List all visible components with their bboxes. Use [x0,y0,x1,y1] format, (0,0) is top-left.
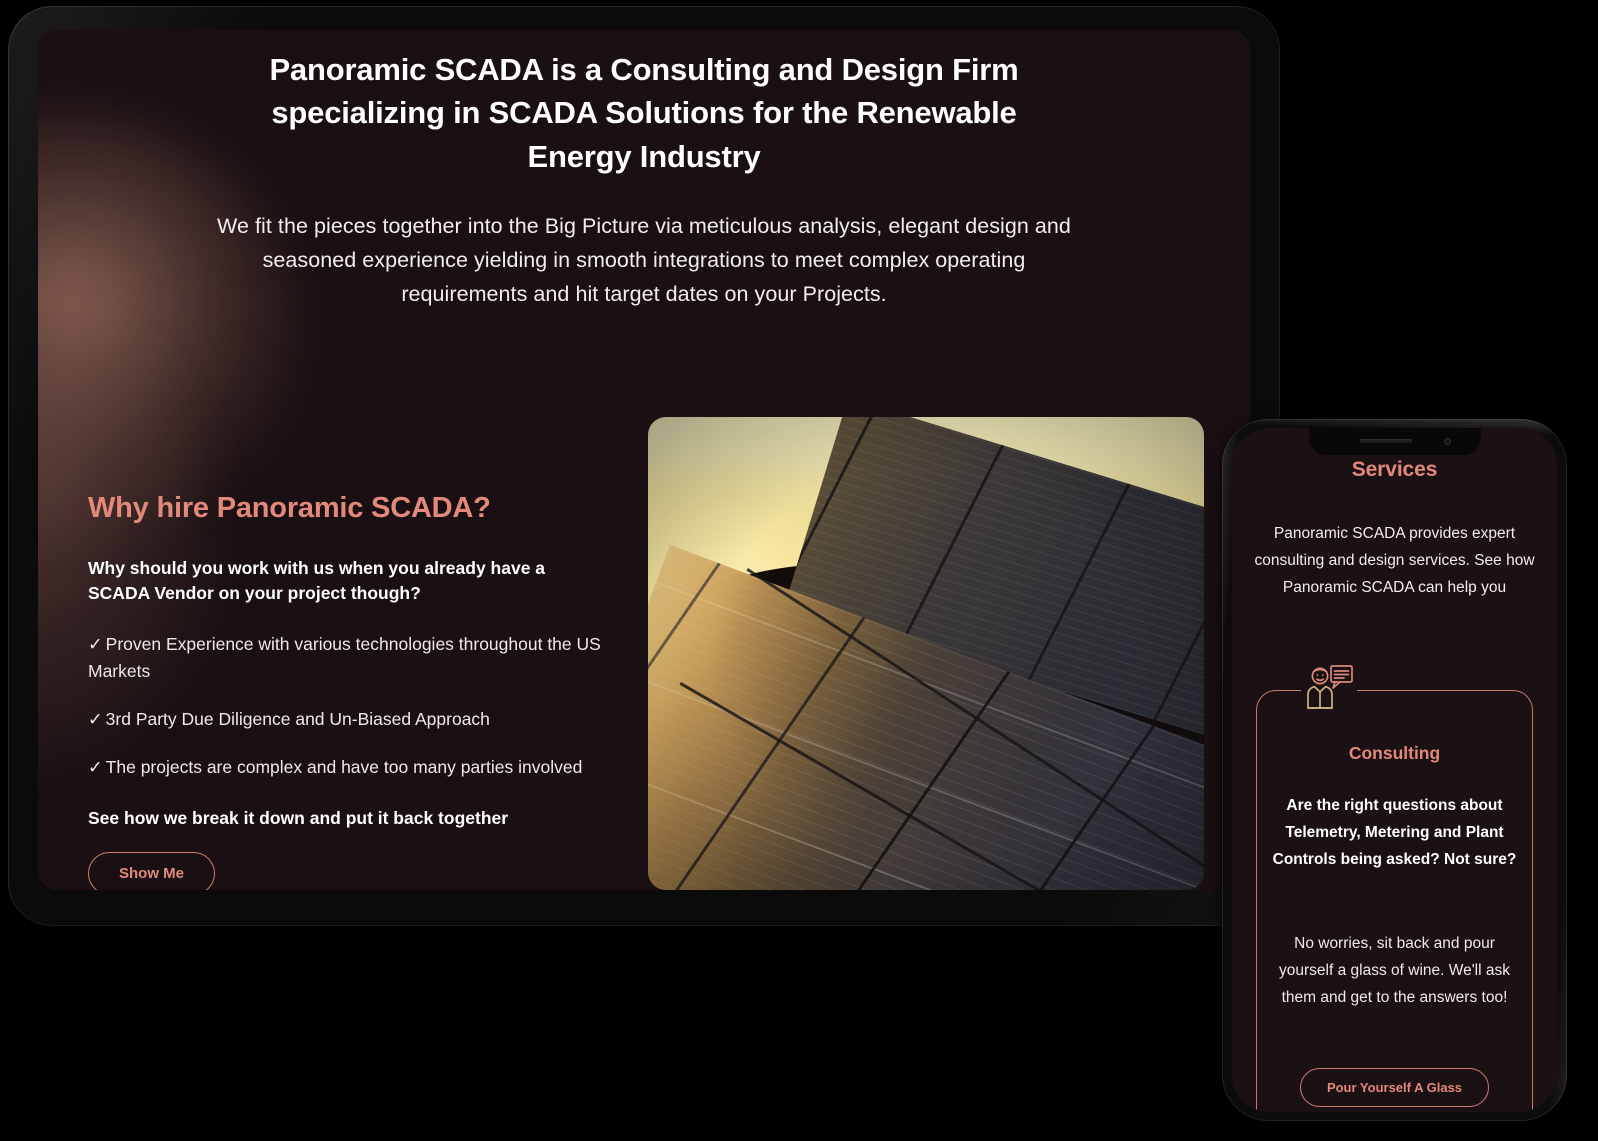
why-hire-title: Why hire Panoramic SCADA? [88,492,608,525]
tablet-screen: Panoramic SCADA is a Consulting and Desi… [38,30,1250,890]
tablet-device-frame: Panoramic SCADA is a Consulting and Desi… [8,6,1280,926]
consulting-card[interactable]: Consulting Are the right questions about… [1256,690,1533,1112]
pour-yourself-a-glass-button[interactable]: Pour Yourself A Glass [1300,1068,1489,1107]
consulting-heading: Consulting [1257,743,1532,764]
why-hire-section: Why hire Panoramic SCADA? Why should you… [88,492,608,890]
phone-notch [1309,428,1481,455]
why-hire-bullet: ✓Proven Experience with various technolo… [88,631,608,685]
checkmark-icon: ✓ [88,634,103,654]
why-hire-bullet: ✓3rd Party Due Diligence and Un-Biased A… [88,706,608,733]
device-mockup-stage: Panoramic SCADA is a Consulting and Desi… [0,0,1598,1141]
hero-subheading: We fit the pieces together into the Big … [204,210,1084,312]
consulting-body: No worries, sit back and pour yourself a… [1271,931,1518,1012]
show-me-button[interactable]: Show Me [88,852,215,890]
hero-heading: Panoramic SCADA is a Consulting and Desi… [224,48,1064,178]
phone-screen: Services Panoramic SCADA provides expert… [1232,428,1557,1112]
why-hire-bullet-label: 3rd Party Due Diligence and Un-Biased Ap… [106,709,490,729]
checkmark-icon: ✓ [88,757,103,777]
phone-device-frame: Services Panoramic SCADA provides expert… [1222,419,1567,1121]
consulting-cta-wrap: Pour Yourself A Glass [1257,1068,1532,1107]
earpiece-speaker-icon [1360,439,1412,443]
why-hire-closing: See how we break it down and put it back… [88,806,608,831]
why-hire-bullet-label: Proven Experience with various technolog… [88,634,601,681]
phone-page-content: Services Panoramic SCADA provides expert… [1232,428,1557,1112]
checkmark-icon: ✓ [88,709,103,729]
why-hire-bullet: ✓The projects are complex and have too m… [88,754,608,781]
consulting-question: Are the right questions about Telemetry,… [1271,793,1518,874]
tablet-page-content: Panoramic SCADA is a Consulting and Desi… [38,30,1250,890]
why-hire-lead: Why should you work with us when you alr… [88,556,608,605]
why-hire-bullet-label: The projects are complex and have too ma… [106,757,583,777]
services-intro: Panoramic SCADA provides expert consulti… [1254,521,1535,601]
photo-vignette [648,417,1204,890]
consultant-speech-bubble-icon [1303,663,1355,711]
solar-panel-photo [648,417,1204,890]
services-title: Services [1232,458,1557,482]
front-camera-icon [1444,438,1451,445]
